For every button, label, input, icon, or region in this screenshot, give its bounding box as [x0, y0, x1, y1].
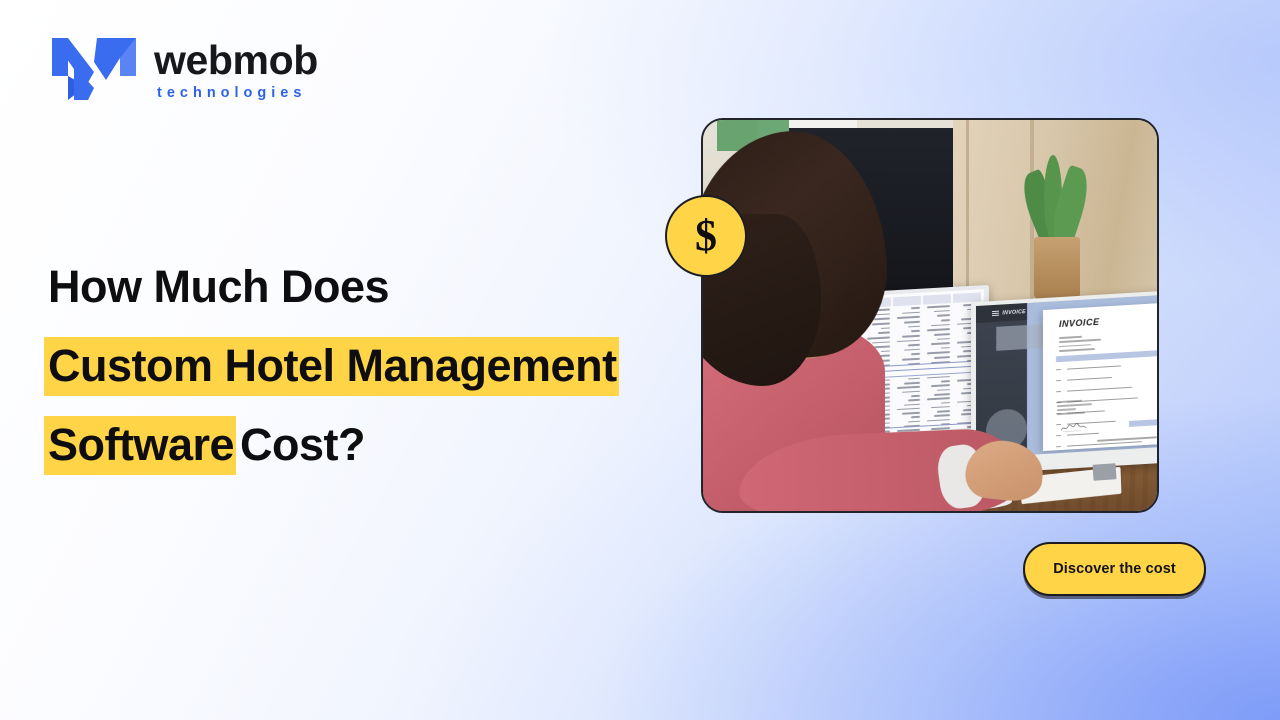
headline-line-1-text: How Much Does [44, 258, 391, 317]
invoice-bill-to [1059, 333, 1132, 354]
invoice-app-screen: INVOICE INVOICE [976, 294, 1159, 457]
headline-line-3-highlight: Software [44, 416, 236, 475]
hero-photo: INVOICE INVOICE [701, 118, 1159, 513]
headline-line-3: SoftwareCost? [44, 416, 684, 475]
plant-pot [1034, 237, 1079, 300]
brand-name: webmob [154, 40, 318, 80]
headline-line-3-rest: Cost? [236, 416, 367, 475]
cta-label: Discover the cost [1053, 561, 1176, 577]
brand-tagline: technologies [154, 86, 318, 101]
signature-icon [1057, 421, 1092, 433]
webmob-wm-monogram-icon [50, 36, 138, 102]
headline-line-2-text: Custom Hotel Management [44, 337, 619, 396]
invoice-notes [1057, 399, 1105, 418]
discover-the-cost-button[interactable]: Discover the cost [1023, 542, 1206, 596]
hamburger-menu-icon[interactable] [992, 311, 999, 317]
dollar-sign-icon: $ [665, 195, 747, 277]
invoice-document-heading: INVOICE [1059, 317, 1100, 329]
invoice-document: INVOICE [1043, 301, 1159, 451]
headline-line-1: How Much Does [44, 258, 684, 317]
invoice-app-topbar: INVOICE [976, 303, 1027, 323]
invoice-app-title: INVOICE [1002, 309, 1025, 316]
clipboard-clamp [1093, 463, 1117, 480]
headline-line-2: Custom Hotel Management [44, 337, 684, 396]
brand-logo[interactable]: webmob technologies [50, 36, 318, 102]
page-title: How Much Does Custom Hotel Management So… [44, 258, 684, 475]
dollar-symbol: $ [695, 214, 717, 258]
invoice-meta [1157, 310, 1159, 322]
